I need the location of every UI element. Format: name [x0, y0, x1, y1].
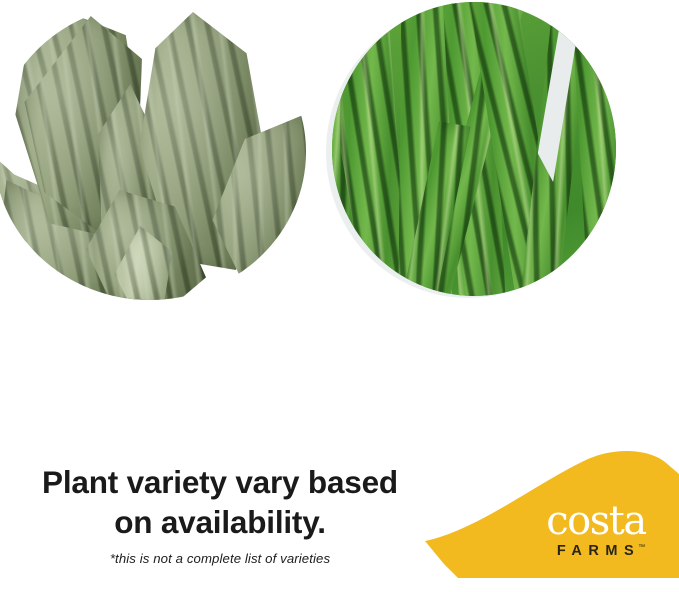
footnote-text: *this is not a complete list of varietie…: [0, 551, 440, 566]
logo-brand-secondary: FARMS™: [526, 542, 666, 560]
page-title-line-1: Plant variety vary based: [0, 462, 440, 502]
snake-plant-broad-leaf-photo: [0, 4, 306, 300]
left-photo-circle-mask: [0, 4, 306, 300]
costa-farms-logo: costa FARMS™: [418, 446, 679, 592]
variegated-snake-plant-photo: [332, 2, 616, 296]
right-photo-circle-mask: [332, 2, 616, 296]
logo-brand-secondary-text: FARMS: [557, 543, 640, 559]
left-photo-leaf-composition: [0, 4, 306, 300]
banner-canvas: Plant variety vary based on availability…: [0, 0, 679, 592]
trademark-icon: ™: [638, 539, 652, 557]
caption-block: Plant variety vary based on availability…: [0, 462, 440, 566]
logo-brand-primary: costa: [526, 500, 666, 542]
logo-wordmark: costa FARMS™: [526, 500, 666, 560]
page-title-line-2: on availability.: [0, 502, 440, 542]
